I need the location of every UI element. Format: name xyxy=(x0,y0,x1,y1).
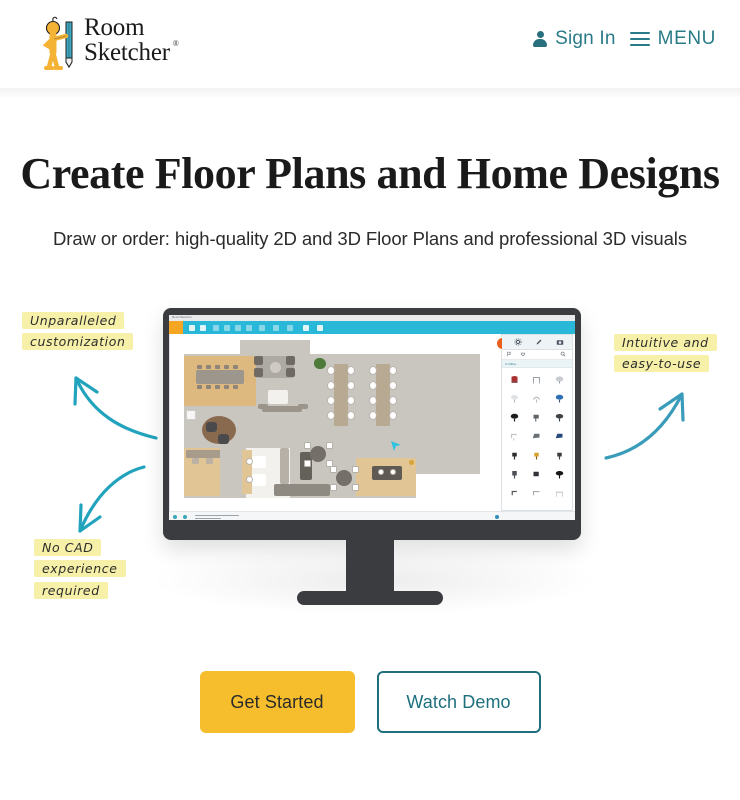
library-item[interactable] xyxy=(526,388,549,407)
person-icon xyxy=(533,31,547,47)
floorplan-drawing xyxy=(184,338,480,514)
get-started-button[interactable]: Get Started xyxy=(200,671,355,733)
logo[interactable]: Room Sketcher ® xyxy=(38,14,170,72)
library-toolbar xyxy=(502,335,572,350)
header-divider xyxy=(0,88,740,97)
header-nav: Sign In MENU xyxy=(533,28,716,50)
camera-icon[interactable] xyxy=(556,338,564,346)
callout-intuitive-line2: easy-to-use xyxy=(614,355,709,372)
library-item[interactable] xyxy=(503,426,526,445)
callout-nocad-line2: experience xyxy=(34,560,126,577)
library-item[interactable] xyxy=(548,502,571,510)
status-line-2 xyxy=(195,518,221,519)
library-item[interactable] xyxy=(503,502,526,510)
app-title: RoomSketcher xyxy=(172,315,192,319)
toolbar-home-button[interactable] xyxy=(169,321,183,334)
library-category-label: In Office xyxy=(502,360,572,368)
page-subtitle: Draw or order: high-quality 2D and 3D Fl… xyxy=(0,228,740,250)
status-line-1 xyxy=(195,515,239,516)
toolbar-icon-cut[interactable] xyxy=(235,325,241,331)
toolbar-icon-measure[interactable] xyxy=(317,325,323,331)
logo-line-2: Sketcher xyxy=(84,41,170,66)
heart-icon[interactable] xyxy=(520,351,526,357)
library-item[interactable] xyxy=(503,369,526,388)
app-statusbar xyxy=(169,511,575,520)
gear-icon[interactable] xyxy=(514,338,522,346)
library-item[interactable] xyxy=(526,369,549,388)
callout-unparalleled-line1: Unparalleled xyxy=(22,312,124,329)
flag-icon[interactable] xyxy=(506,351,512,357)
library-item[interactable] xyxy=(548,426,571,445)
hamburger-icon xyxy=(630,32,650,47)
toolbar-icon-copy[interactable] xyxy=(246,325,252,331)
toolbar-icon-redo[interactable] xyxy=(224,325,230,331)
toolbar-icon-door[interactable] xyxy=(287,325,293,331)
logo-line-1: Room xyxy=(84,16,170,41)
page-title: Create Floor Plans and Home Designs xyxy=(0,148,740,199)
sign-in-label: Sign In xyxy=(555,28,616,50)
logo-wordmark: Room Sketcher ® xyxy=(84,14,170,65)
library-item[interactable] xyxy=(548,388,571,407)
library-item[interactable] xyxy=(503,445,526,464)
toolbar-icon-settings[interactable] xyxy=(303,325,309,331)
watch-demo-button[interactable]: Watch Demo xyxy=(377,671,541,733)
roomsketcher-logo-icon xyxy=(38,14,78,72)
toolbar-icon-save[interactable] xyxy=(200,325,206,331)
search-icon[interactable] xyxy=(560,351,566,357)
menu-button[interactable]: MENU xyxy=(630,28,716,50)
library-item[interactable] xyxy=(526,483,549,502)
curved-arrow-up-left-icon xyxy=(44,356,164,457)
library-item[interactable] xyxy=(503,407,526,426)
library-item[interactable] xyxy=(503,388,526,407)
toolbar-icon-undo[interactable] xyxy=(213,325,219,331)
library-item[interactable] xyxy=(526,407,549,426)
library-filter-row xyxy=(502,350,572,360)
callout-intuitive-line1: Intuitive and xyxy=(614,334,717,351)
furniture-library-panel[interactable]: In Office xyxy=(501,334,573,511)
toolbar-icon-room[interactable] xyxy=(273,325,279,331)
sign-in-button[interactable]: Sign In xyxy=(533,28,616,50)
library-item[interactable] xyxy=(526,502,549,510)
callout-nocad-line3: required xyxy=(34,582,108,599)
callout-intuitive: Intuitive and easy-to-use xyxy=(614,332,717,375)
curved-arrow-up-right-icon xyxy=(600,382,710,473)
library-item-grid[interactable] xyxy=(502,368,572,510)
callout-unparalleled: Unparalleled customization xyxy=(22,310,133,353)
curved-arrow-down-left-icon xyxy=(48,455,158,550)
pencil-icon[interactable] xyxy=(535,338,543,346)
cta-button-row: Get Started Watch Demo xyxy=(0,671,740,733)
landing-page: Room Sketcher ® Sign In MENU Create Floo… xyxy=(0,0,740,800)
library-item[interactable] xyxy=(503,483,526,502)
monitor-base xyxy=(297,591,443,605)
library-item[interactable] xyxy=(548,483,571,502)
app-toolbar[interactable] xyxy=(169,321,575,334)
library-item[interactable] xyxy=(526,445,549,464)
registered-mark: ® xyxy=(173,40,179,48)
toolbar-icon-new[interactable] xyxy=(189,325,195,331)
library-item[interactable] xyxy=(548,464,571,483)
library-item[interactable] xyxy=(526,426,549,445)
product-screenshot-monitor: RoomSketcher xyxy=(163,308,581,540)
library-item[interactable] xyxy=(503,464,526,483)
menu-label: MENU xyxy=(658,28,716,50)
app-screen: RoomSketcher xyxy=(169,315,575,520)
library-item[interactable] xyxy=(548,369,571,388)
library-item[interactable] xyxy=(548,445,571,464)
library-item[interactable] xyxy=(526,464,549,483)
callout-unparalleled-line2: customization xyxy=(22,333,133,350)
library-item[interactable] xyxy=(548,407,571,426)
toolbar-icon-wall[interactable] xyxy=(259,325,265,331)
site-header: Room Sketcher ® Sign In MENU xyxy=(0,0,740,88)
